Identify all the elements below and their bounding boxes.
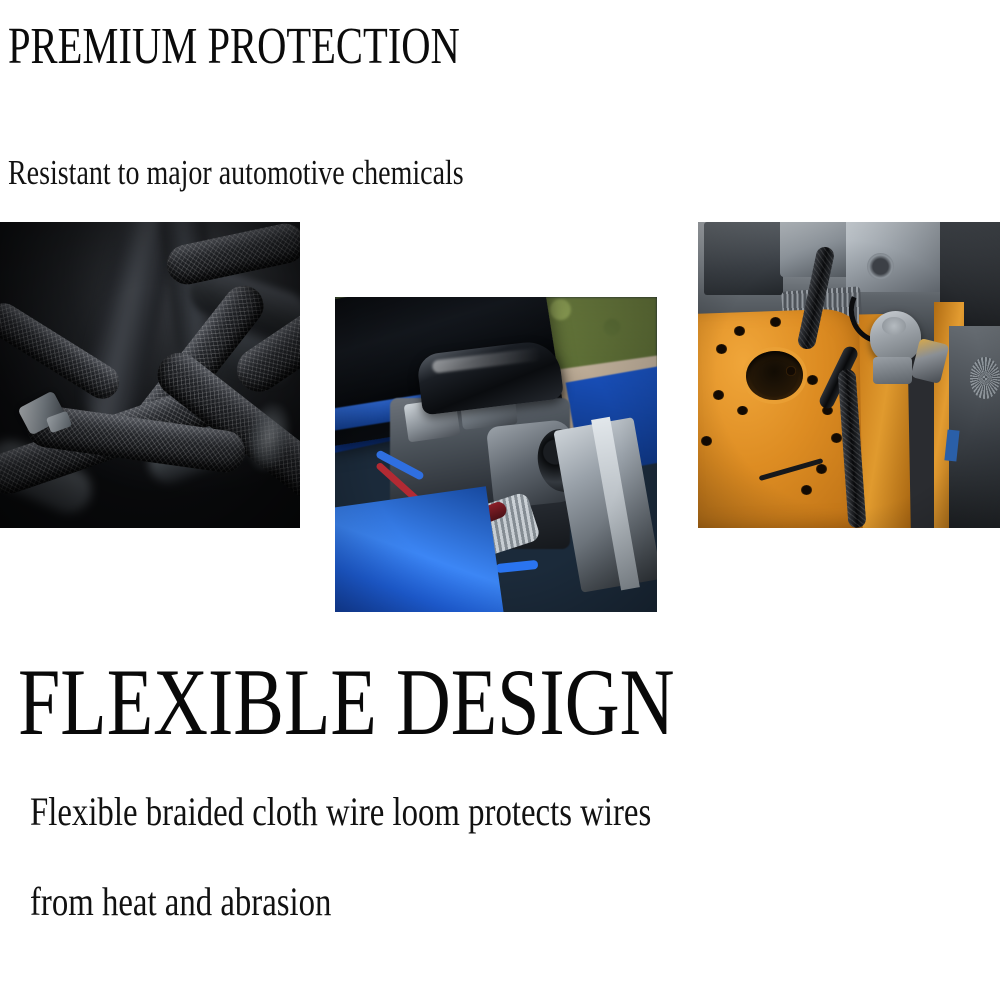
flexible-design-body-line-2: from heat and abrasion [30, 878, 331, 926]
vignette-overlay [698, 222, 1000, 528]
vignette-overlay [0, 222, 300, 528]
product-feature-banner: PREMIUM PROTECTION Resistant to major au… [0, 0, 1000, 1000]
blue-muscle-car-engine-bay-photo [335, 297, 657, 612]
orange-engine-bay-photo [698, 222, 1000, 528]
premium-protection-headline: PREMIUM PROTECTION [8, 18, 460, 76]
vignette-overlay [335, 297, 657, 612]
braided-loom-closeup-photo [0, 222, 300, 528]
premium-protection-subheadline: Resistant to major automotive chemicals [8, 152, 464, 194]
flexible-design-headline: FLEXIBLE DESIGN [18, 650, 675, 754]
flexible-design-body-line-1: Flexible braided cloth wire loom protect… [30, 788, 651, 836]
